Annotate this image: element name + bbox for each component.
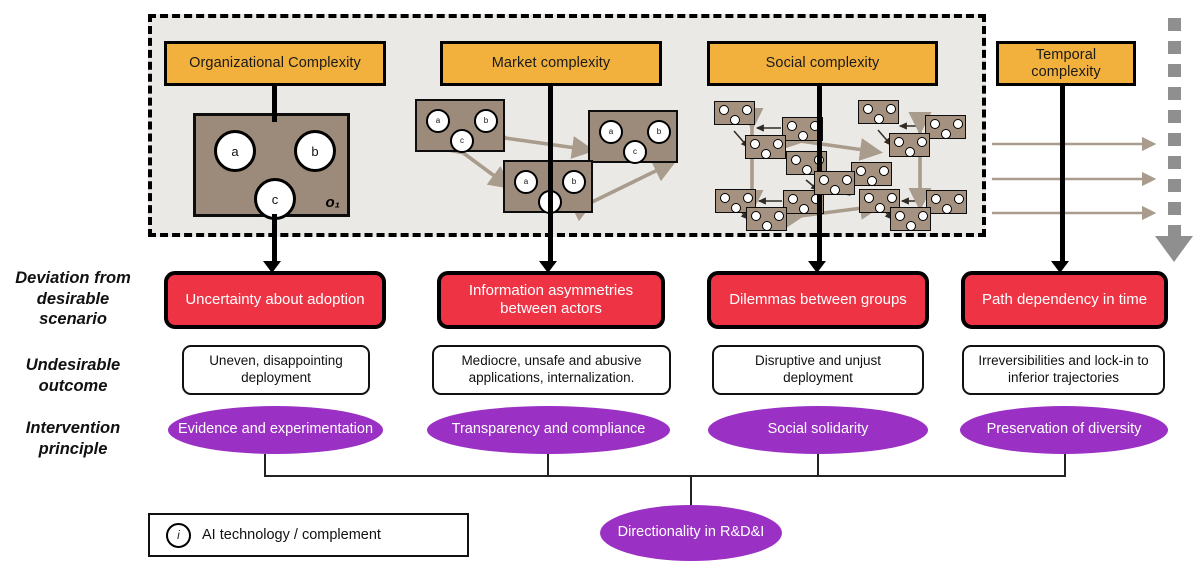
outcome-box-market[interactable]: Mediocre, unsafe and abusive application… bbox=[432, 345, 671, 395]
complexity-box-social-2b bbox=[925, 115, 966, 139]
trunk-head-temporal bbox=[1051, 261, 1069, 273]
node-a: a bbox=[426, 109, 450, 133]
node-b bbox=[879, 166, 889, 176]
header-temporal-complexity[interactable]: Temporal complexity bbox=[996, 41, 1136, 86]
node-a bbox=[894, 137, 904, 147]
trunk-organizational-upper bbox=[272, 84, 277, 122]
node-a bbox=[720, 193, 730, 203]
node-b bbox=[742, 105, 752, 115]
node-b bbox=[917, 137, 927, 147]
node-c bbox=[731, 203, 741, 213]
node-a bbox=[864, 193, 874, 203]
node-b: b bbox=[647, 120, 671, 144]
node-c bbox=[762, 221, 772, 231]
node-a bbox=[751, 211, 761, 221]
node-c bbox=[867, 176, 877, 186]
node-a bbox=[819, 175, 829, 185]
header-organizational-complexity[interactable]: Organizational Complexity bbox=[164, 41, 386, 86]
node-c bbox=[905, 147, 915, 157]
node-b bbox=[953, 119, 963, 129]
node-b bbox=[918, 211, 928, 221]
trunk-head-market bbox=[539, 261, 557, 273]
header-market-complexity[interactable]: Market complexity bbox=[440, 41, 662, 86]
complexity-box-market-1: a b c bbox=[415, 99, 505, 152]
node-a bbox=[930, 119, 940, 129]
header-social-complexity[interactable]: Social complexity bbox=[707, 41, 938, 86]
intervention-ellipse-market[interactable]: Transparency and compliance bbox=[427, 406, 670, 454]
cluster-label-o1: o₁ bbox=[326, 194, 340, 211]
node-b: b bbox=[294, 130, 336, 172]
trunk-head-social bbox=[808, 261, 826, 273]
node-c bbox=[802, 165, 812, 175]
complexity-box-social-1a bbox=[714, 101, 755, 125]
node-b bbox=[774, 211, 784, 221]
node-a: a bbox=[214, 130, 256, 172]
node-b bbox=[954, 194, 964, 204]
node-a bbox=[856, 166, 866, 176]
complexity-box-social-1c bbox=[745, 135, 786, 159]
complexity-box-social-5b bbox=[926, 190, 967, 214]
complexity-box-social-3c bbox=[814, 171, 855, 195]
timeline-arrows bbox=[992, 144, 1153, 213]
deviation-box-organizational[interactable]: Uncertainty about adoption bbox=[164, 271, 386, 329]
complexity-box-social-2c bbox=[889, 133, 930, 157]
node-c bbox=[798, 131, 808, 141]
row-label-undesirable-outcome: Undesirable outcome bbox=[3, 355, 143, 396]
trunk-market-lower bbox=[548, 213, 553, 266]
intervention-ellipse-temporal[interactable]: Preservation of diversity bbox=[960, 406, 1168, 454]
node-c bbox=[941, 129, 951, 139]
synthesis-ellipse-directionality[interactable]: Directionality in R&D&I bbox=[600, 505, 782, 561]
node-a bbox=[719, 105, 729, 115]
node-c: c bbox=[623, 140, 647, 164]
complexity-box-organizational: a b c o₁ bbox=[193, 113, 350, 217]
node-a bbox=[863, 104, 873, 114]
node-a bbox=[750, 139, 760, 149]
row-label-intervention-principle: Intervention principle bbox=[3, 418, 143, 459]
node-c: c bbox=[450, 129, 474, 153]
node-b bbox=[743, 193, 753, 203]
outcome-box-organizational[interactable]: Uneven, disappointing deployment bbox=[182, 345, 370, 395]
complexity-box-market-2: a b c bbox=[588, 110, 678, 163]
node-a bbox=[895, 211, 905, 221]
trunk-temporal bbox=[1060, 84, 1065, 266]
complexity-box-social-5c bbox=[890, 207, 931, 231]
outcome-box-social[interactable]: Disruptive and unjust deployment bbox=[712, 345, 924, 395]
deviation-box-social[interactable]: Dilemmas between groups bbox=[707, 271, 929, 329]
complexity-box-social-4c bbox=[746, 207, 787, 231]
trunk-head-organizational bbox=[263, 261, 281, 273]
node-a: a bbox=[514, 170, 538, 194]
node-c bbox=[730, 115, 740, 125]
trunk-organizational-lower bbox=[272, 214, 277, 266]
node-b: b bbox=[562, 170, 586, 194]
node-b bbox=[773, 139, 783, 149]
deviation-box-market[interactable]: Information asymmetries between actors bbox=[437, 271, 665, 329]
complexity-box-social-3b bbox=[851, 162, 892, 186]
node-b bbox=[842, 175, 852, 185]
node-a bbox=[791, 155, 801, 165]
node-b bbox=[887, 193, 897, 203]
node-c bbox=[761, 149, 771, 159]
intervention-ellipse-organizational[interactable]: Evidence and experimentation bbox=[168, 406, 383, 454]
legend-label: AI technology / complement bbox=[202, 527, 381, 543]
diagram-canvas: Organizational Complexity a b c o₁ Marke… bbox=[0, 0, 1200, 571]
deviation-box-temporal[interactable]: Path dependency in time bbox=[961, 271, 1168, 329]
node-a bbox=[931, 194, 941, 204]
info-circle-icon: i bbox=[166, 523, 191, 548]
time-arrow-icon bbox=[1155, 236, 1193, 262]
node-c bbox=[874, 114, 884, 124]
node-c bbox=[799, 204, 809, 214]
intervention-ellipse-social[interactable]: Social solidarity bbox=[708, 406, 928, 454]
node-a bbox=[788, 194, 798, 204]
node-c bbox=[875, 203, 885, 213]
trunk-market-upper bbox=[548, 84, 553, 214]
legend-box: i AI technology / complement bbox=[148, 513, 469, 557]
node-c bbox=[906, 221, 916, 231]
node-b: b bbox=[474, 109, 498, 133]
node-b bbox=[886, 104, 896, 114]
row-label-deviation: Deviation from desirable scenario bbox=[3, 268, 143, 330]
outcome-box-temporal[interactable]: Irreversibilities and lock-in to inferio… bbox=[962, 345, 1165, 395]
node-a: a bbox=[599, 120, 623, 144]
node-c bbox=[942, 204, 952, 214]
node-c bbox=[830, 185, 840, 195]
node-a bbox=[787, 121, 797, 131]
complexity-box-social-2a bbox=[858, 100, 899, 124]
